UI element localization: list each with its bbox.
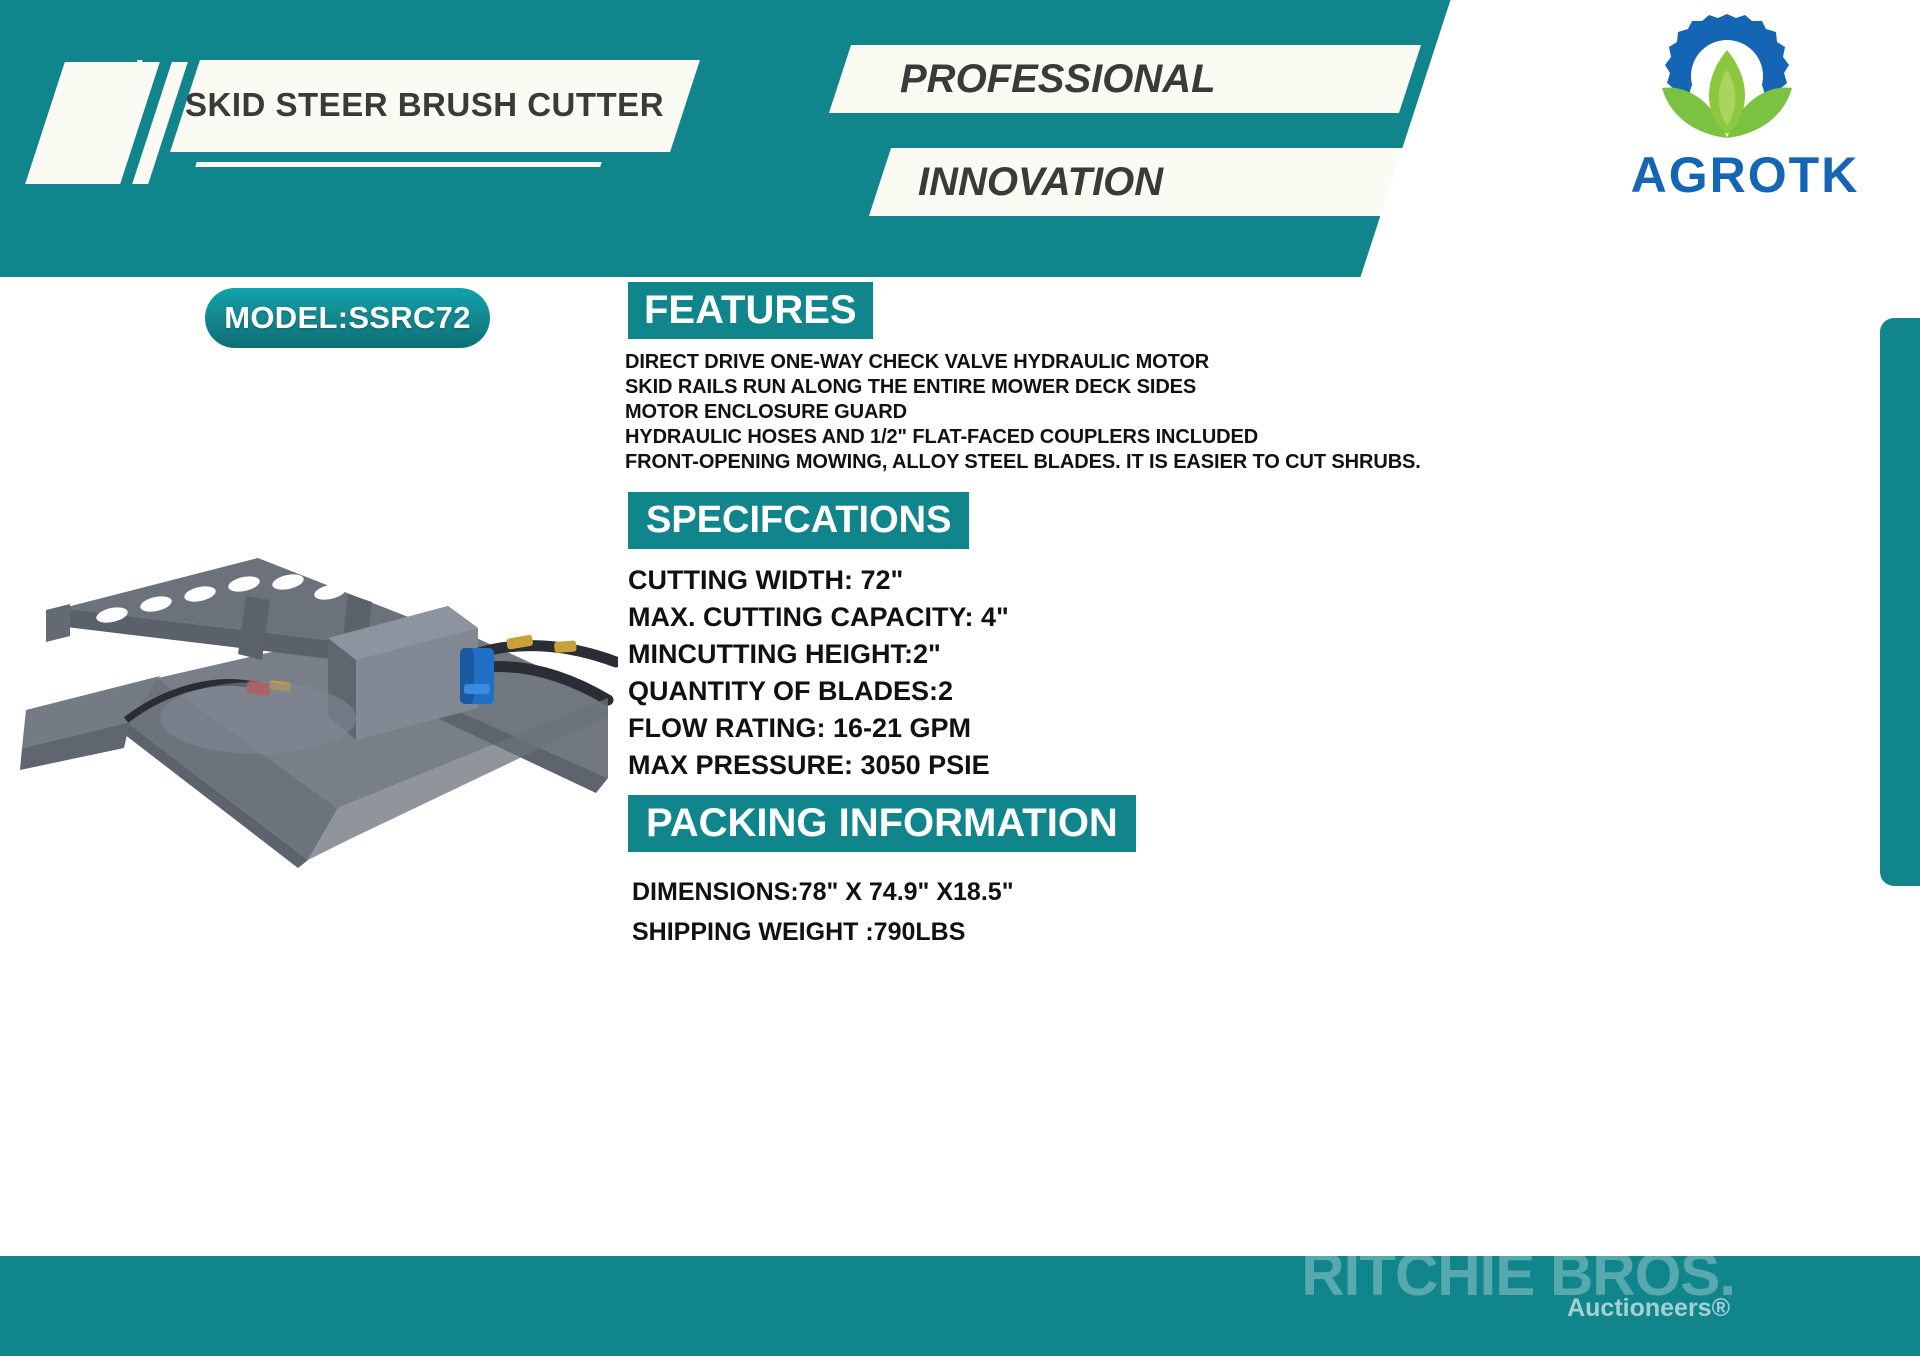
spec-item: CUTTING WIDTH: 72" (628, 562, 1528, 599)
brand-wordmark: AGROTK (1590, 146, 1900, 204)
feature-item: HYDRAULIC HOSES AND 1/2" FLAT-FACED COUP… (625, 425, 1585, 450)
spec-item: QUANTITY OF BLADES:2 (628, 673, 1528, 710)
feature-item: SKID RAILS RUN ALONG THE ENTIRE MOWER DE… (625, 375, 1585, 400)
model-badge: MODEL:SSRC72 (205, 288, 490, 348)
features-heading: FEATURES (628, 282, 873, 339)
right-edge-tab (1880, 318, 1920, 886)
ritchie-bros-watermark-sub: Auctioneers® (1567, 1294, 1730, 1323)
spec-item: MAX PRESSURE: 3050 PSIE (628, 747, 1528, 784)
feature-item: MOTOR ENCLOSURE GUARD (625, 400, 1585, 425)
page-footer: RITCHIE BROS. Auctioneers® (0, 1256, 1920, 1356)
page-title: SKID STEER BRUSH CUTTER (185, 74, 705, 136)
packing-heading: PACKING INFORMATION (628, 795, 1136, 852)
packing-list: DIMENSIONS:78" X 74.9" X18.5" SHIPPING W… (632, 872, 1532, 952)
spec-sheet-page: SKID STEER BRUSH CUTTER PROFESSIONAL INN… (0, 0, 1920, 1356)
feature-item: FRONT-OPENING MOWING, ALLOY STEEL BLADES… (625, 450, 1585, 475)
agrotk-gear-leaf-icon (1632, 8, 1822, 148)
features-list: DIRECT DRIVE ONE-WAY CHECK VALVE HYDRAUL… (625, 350, 1585, 475)
spec-item: MAX. CUTTING CAPACITY: 4" (628, 599, 1528, 636)
brand-logo: AGROTK (1590, 8, 1900, 218)
packing-item: DIMENSIONS:78" X 74.9" X18.5" (632, 872, 1532, 912)
specifications-heading: SPECIFCATIONS (628, 492, 969, 549)
packing-item: SHIPPING WEIGHT :790LBS (632, 912, 1532, 952)
specifications-list: CUTTING WIDTH: 72" MAX. CUTTING CAPACITY… (628, 562, 1528, 784)
page-header: SKID STEER BRUSH CUTTER PROFESSIONAL INN… (0, 0, 1920, 277)
feature-item: DIRECT DRIVE ONE-WAY CHECK VALVE HYDRAUL… (625, 350, 1585, 375)
spec-item: FLOW RATING: 16-21 GPM (628, 710, 1528, 747)
spec-item: MINCUTTING HEIGHT:2" (628, 636, 1528, 673)
tagline-innovation: INNOVATION (918, 148, 1163, 216)
header-title-underline (195, 162, 602, 167)
tagline-professional: PROFESSIONAL (900, 45, 1216, 113)
product-photo (8, 448, 618, 878)
